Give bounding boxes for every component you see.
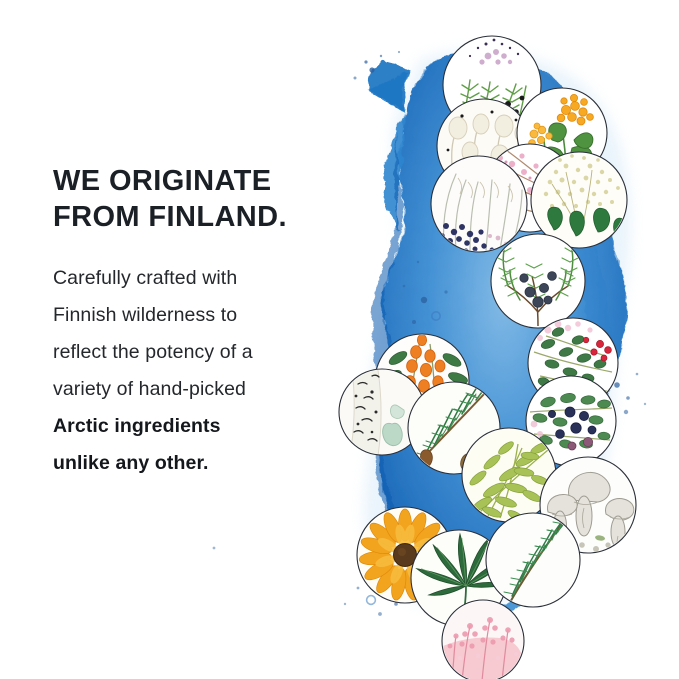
text-block: WE ORIGINATE FROM FINLAND. Carefully cra…	[53, 163, 353, 482]
page-title: WE ORIGINATE FROM FINLAND.	[53, 163, 353, 235]
body-line-4: variety of hand-picked	[53, 378, 246, 400]
medallion-rosebay-willowherb	[442, 600, 524, 679]
body-copy: Carefully crafted with Finnish wildernes…	[53, 260, 353, 482]
body-line-6-bold: unlike any other.	[53, 452, 209, 474]
body-line-1: Carefully crafted with	[53, 267, 237, 289]
poster-canvas: WE ORIGINATE FROM FINLAND. Carefully cra…	[0, 0, 679, 679]
body-line-2: Finnish wilderness to	[53, 304, 237, 326]
body-line-3: reflect the potency of a	[53, 341, 253, 363]
medallion-juniper-berry	[491, 234, 585, 328]
body-line-5-bold: Arctic ingredients	[53, 415, 221, 437]
